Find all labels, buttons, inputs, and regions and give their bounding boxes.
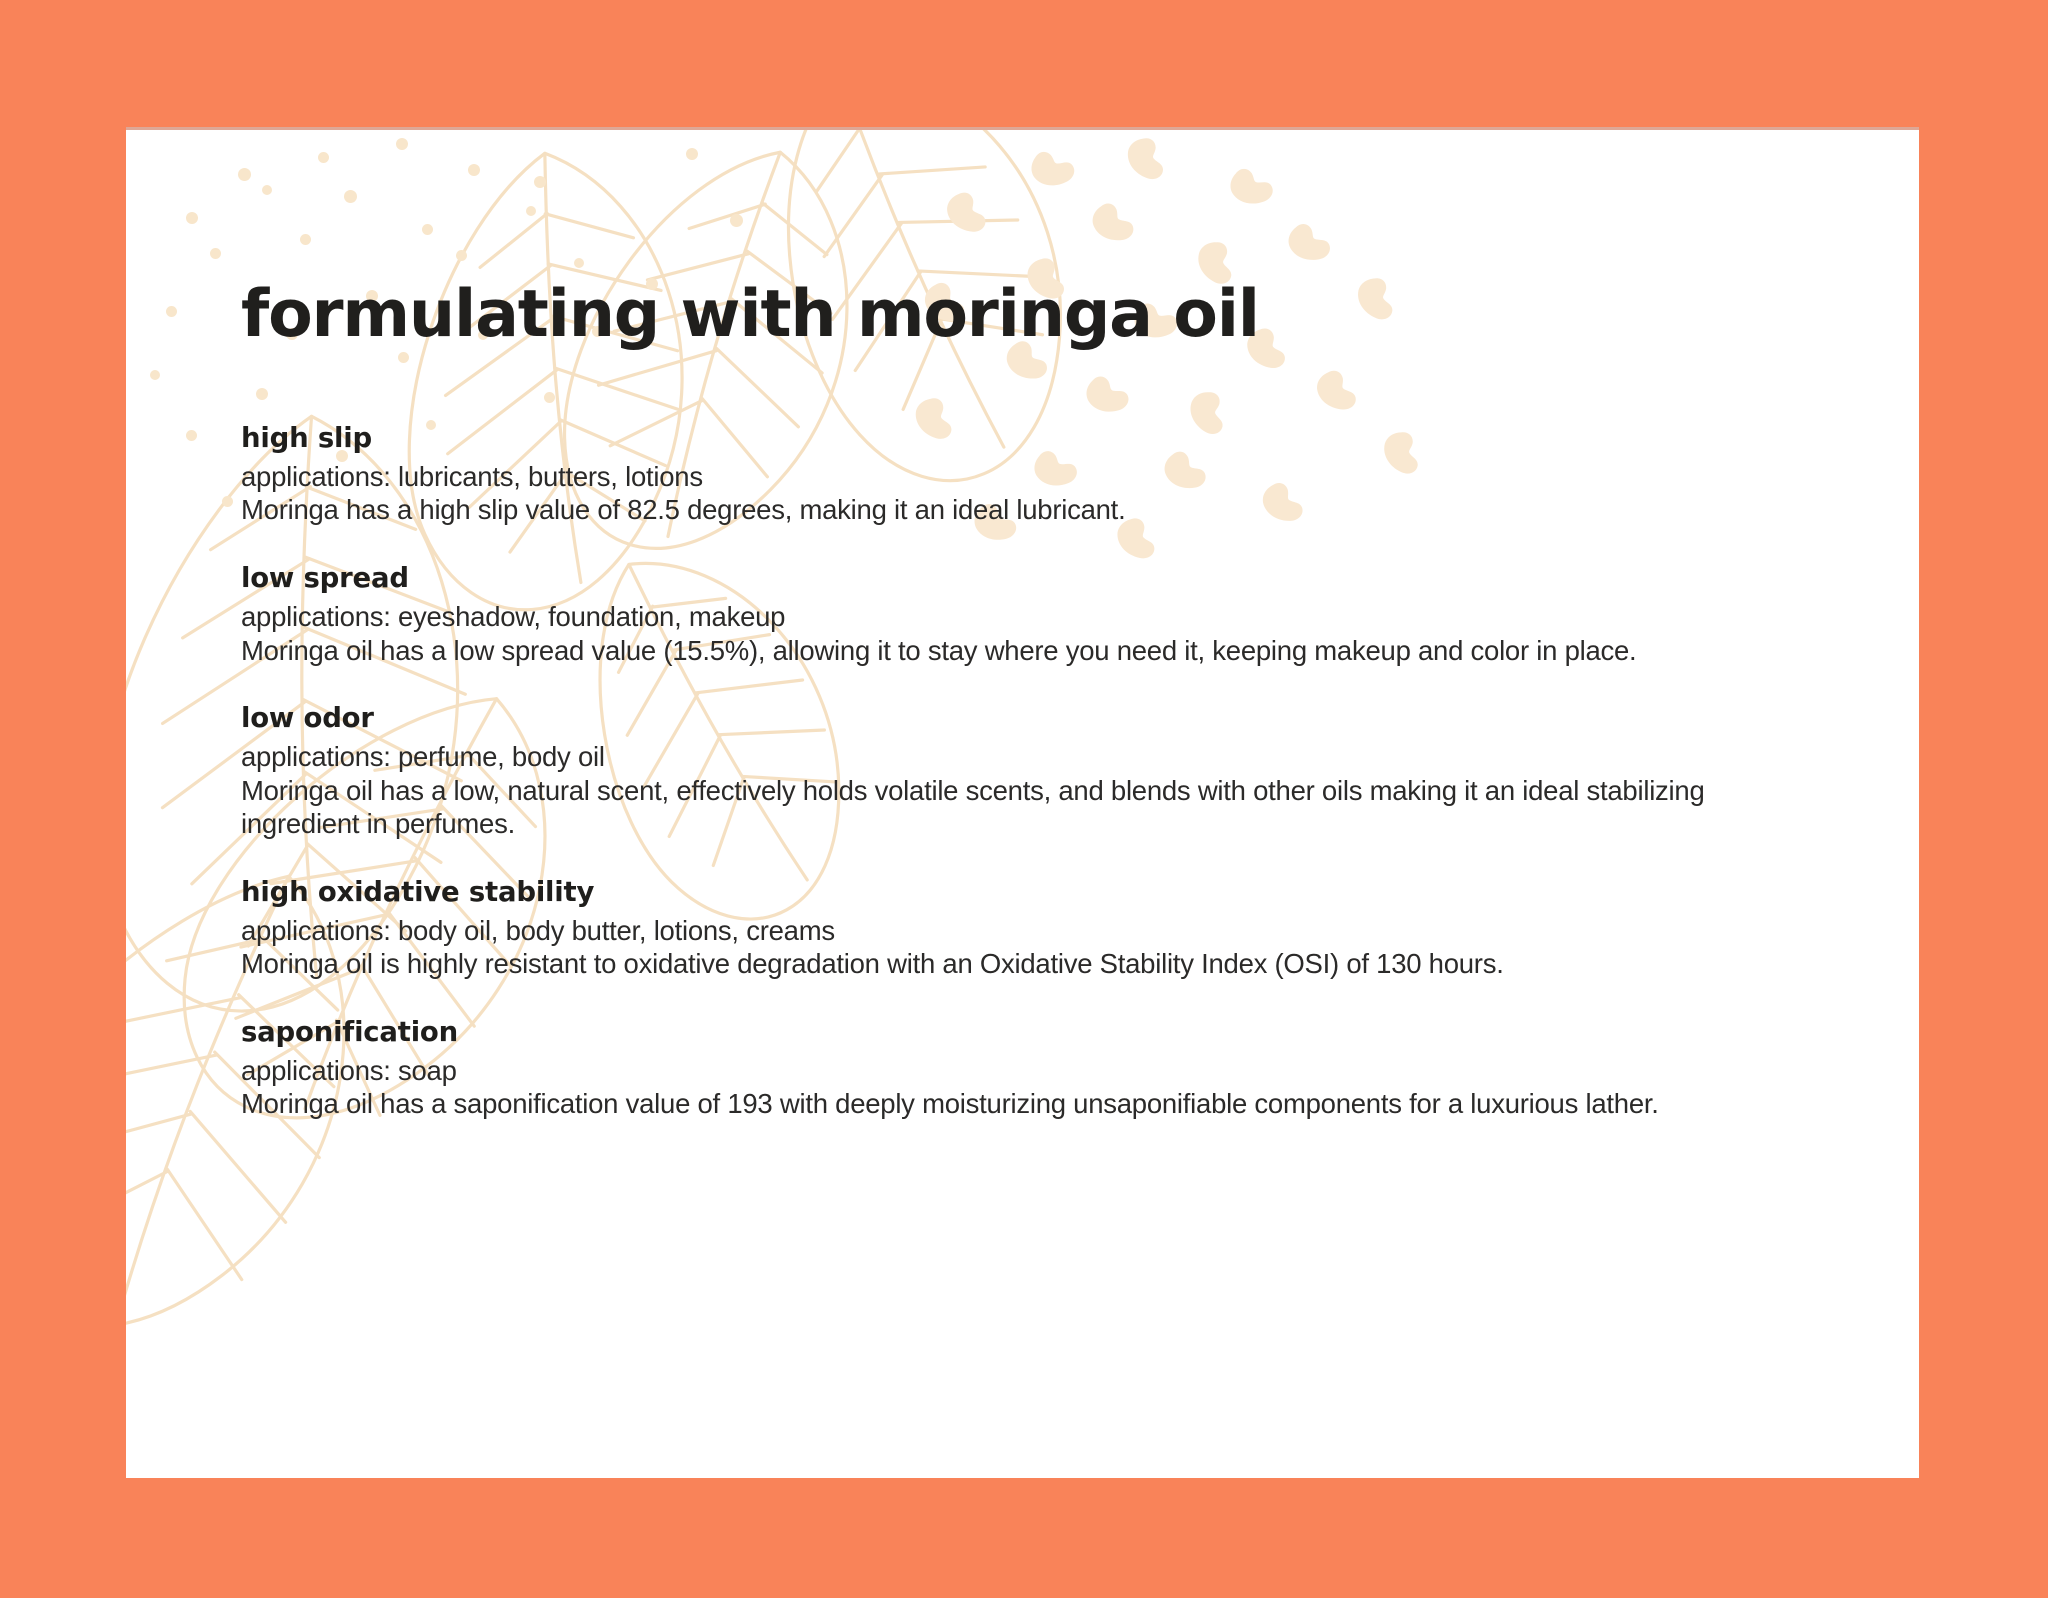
dot-icon [210,248,221,259]
section-description: Moringa oil has a low spread value (15.5… [241,634,1771,668]
dot-icon [186,430,197,441]
property-section: saponificationapplications: soapMoringa … [241,1014,1801,1121]
property-section: low odorapplications: perfume, body oilM… [241,700,1801,841]
page-title: formulating with moringa oil [241,282,1259,347]
section-description: Moringa oil has a low, natural scent, ef… [241,774,1771,841]
section-applications: applications: perfume, body oil [241,740,1801,774]
section-list: high slipapplications: lubricants, butte… [241,420,1801,1121]
section-applications: applications: body oil, body butter, lot… [241,914,1801,948]
section-heading: low odor [241,700,1801,738]
section-applications: applications: eyeshadow, foundation, mak… [241,600,1801,634]
dot-icon [166,306,177,317]
section-description: Moringa has a high slip value of 82.5 de… [241,493,1771,527]
property-section: high slipapplications: lubricants, butte… [241,420,1801,527]
section-applications: applications: soap [241,1054,1801,1088]
section-description: Moringa oil has a saponification value o… [241,1087,1771,1121]
dot-icon [222,496,233,507]
section-applications: applications: lubricants, butters, lotio… [241,460,1801,494]
slide-content: formulating with moringa oil high slipap… [241,130,1841,1478]
property-section: high oxidative stabilityapplications: bo… [241,874,1801,981]
slide-canvas: formulating with moringa oil high slipap… [0,0,2048,1598]
section-description: Moringa oil is highly resistant to oxida… [241,947,1771,981]
slide-card: formulating with moringa oil high slipap… [126,130,1919,1478]
section-heading: high slip [241,420,1801,458]
section-heading: low spread [241,560,1801,598]
section-heading: high oxidative stability [241,874,1801,912]
property-section: low spreadapplications: eyeshadow, found… [241,560,1801,667]
section-heading: saponification [241,1014,1801,1052]
dot-icon [186,212,198,224]
dot-icon [150,370,160,380]
